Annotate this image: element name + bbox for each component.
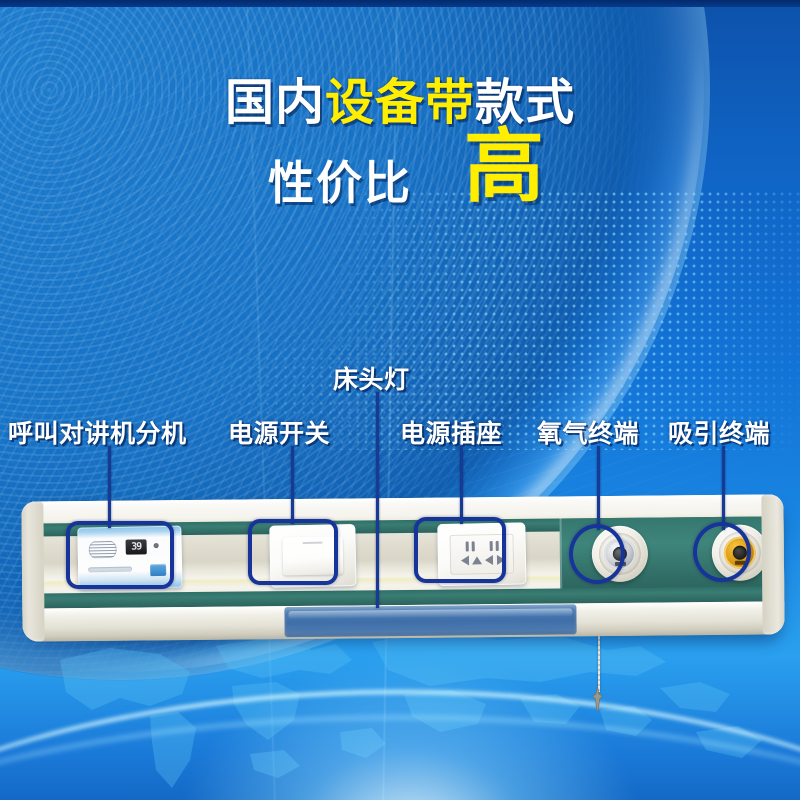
callout-label-suction-terminal: 吸引终端 <box>668 414 770 450</box>
leader-line-oxygen-terminal <box>597 446 600 530</box>
highlight-box-intercom <box>66 521 174 589</box>
highlight-box-power-socket <box>414 517 506 583</box>
callout-label-bed-lamp: 床头灯 <box>333 360 410 396</box>
leader-line-power-socket <box>460 446 463 524</box>
callout-label-intercom: 呼叫对讲机分机 <box>8 414 187 450</box>
leader-line-suction-terminal <box>722 446 725 530</box>
callout-layer: 呼叫对讲机分机 电源开关 床头灯 电源插座 氧气终端 吸引终端 <box>0 0 800 800</box>
leader-line-bed-lamp <box>376 392 379 608</box>
callout-label-power-socket: 电源插座 <box>400 414 502 450</box>
callout-label-oxygen-terminal: 氧气终端 <box>537 414 639 450</box>
callout-label-power-switch: 电源开关 <box>228 414 330 450</box>
highlight-circle-suction-terminal <box>693 522 751 582</box>
leader-line-power-switch <box>291 446 294 524</box>
highlight-box-power-switch <box>248 519 338 585</box>
product-banner: 国内设备带款式 性价比 高 39 <box>0 0 800 800</box>
leader-line-intercom <box>108 446 111 528</box>
highlight-circle-oxygen-terminal <box>569 524 625 584</box>
